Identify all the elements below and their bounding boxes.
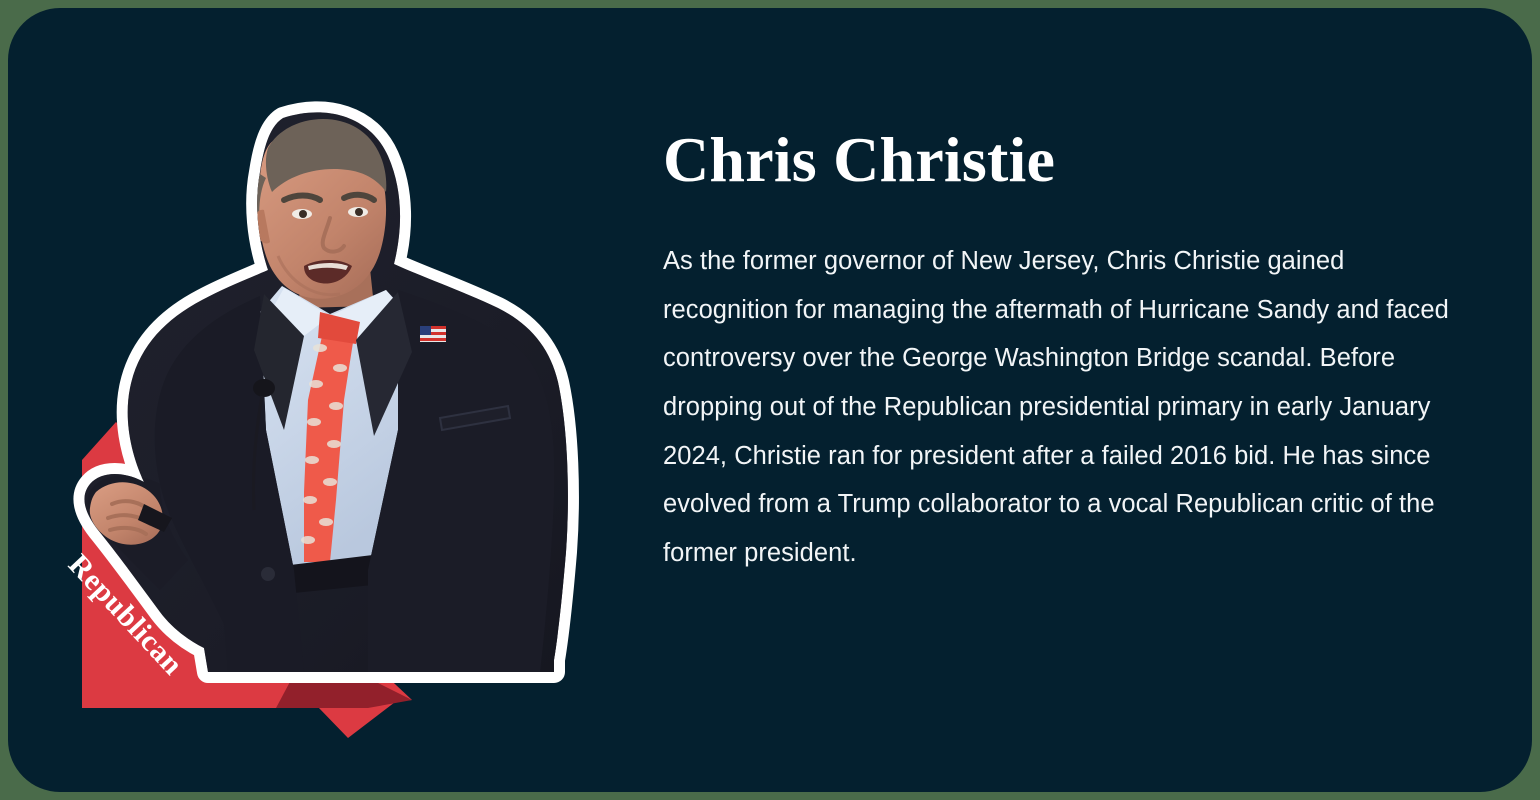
candidate-photo-illustration: [68, 100, 588, 690]
candidate-media: Republican: [8, 8, 628, 792]
candidate-content: Chris Christie As the former governor of…: [663, 126, 1473, 577]
candidate-photo: [68, 100, 588, 690]
candidate-profile-card: Republican: [8, 8, 1532, 792]
candidate-bio: As the former governor of New Jersey, Ch…: [663, 237, 1463, 577]
candidate-name: Chris Christie: [663, 126, 1473, 193]
